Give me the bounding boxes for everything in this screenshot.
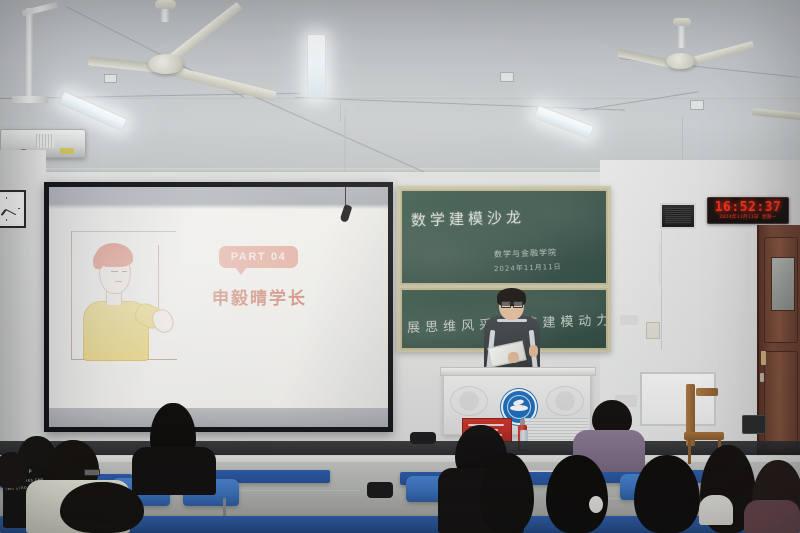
projector-mount-arm	[12, 96, 48, 103]
student-torso	[744, 500, 800, 533]
wall-crack	[661, 230, 662, 350]
projector-mount-pole	[26, 8, 33, 100]
wire-anchor	[500, 72, 514, 82]
lectern-side-medallion	[450, 386, 488, 416]
led-digital-clock: 16:52:37 2024年11月11日 星期一	[707, 197, 789, 224]
lectern-top-ledge	[440, 367, 596, 376]
student-torso	[699, 495, 733, 525]
illustration-eye	[122, 271, 127, 272]
bag-on-floor	[367, 482, 393, 498]
door-lock[interactable]	[760, 373, 764, 382]
small-whiteboard	[640, 372, 716, 426]
door-glass-pane	[771, 257, 795, 311]
ceiling-wire-drop	[345, 108, 346, 178]
analog-wall-clock	[0, 190, 26, 228]
bag-on-floor	[410, 432, 436, 444]
wall-crack	[659, 244, 660, 284]
presenter-glasses	[501, 301, 522, 306]
student-glasses	[84, 469, 100, 476]
led-clock-time: 16:52:37	[715, 201, 782, 214]
classroom-scene: 16:52:37 2024年11月11日 星期一	[0, 0, 800, 533]
stage-edge	[0, 441, 800, 456]
emblem-inner	[507, 395, 531, 419]
student-hair	[546, 455, 608, 533]
presenter-hand	[529, 345, 538, 357]
student-hair	[60, 482, 144, 533]
clock-hour-hand	[1, 209, 7, 215]
speaker-grill	[665, 208, 691, 224]
clock-face	[0, 194, 22, 224]
presenter-hand	[508, 352, 519, 363]
wall-monitor	[742, 415, 766, 434]
led-clock-date: 2024年11月11日 星期一	[719, 216, 776, 221]
student-hair	[480, 453, 534, 533]
illustration-hair-side	[93, 253, 103, 269]
wall-scuff	[620, 315, 638, 325]
fan-hub	[148, 54, 184, 74]
blackboard-upper-panel: 数学建模沙龙 数学与金融学院 2024年11月11日	[400, 189, 608, 285]
ceiling-wire-drop	[340, 98, 341, 122]
presentation-slide: PART 04 申毅晴学长	[49, 209, 388, 408]
projector-vent	[36, 134, 54, 148]
slide-part-label: PART 04	[231, 251, 287, 263]
hair-clip	[589, 496, 603, 513]
wooden-chair-leg	[688, 438, 691, 464]
illustration-mouth	[115, 281, 122, 282]
illustration-eye	[111, 271, 118, 272]
slide-title: 申毅晴学长	[212, 284, 307, 309]
fan-canopy	[155, 0, 176, 9]
lectern-side-medallion	[546, 386, 584, 416]
slide-part-badge: PART 04	[219, 246, 298, 268]
fluorescent-tube-light	[307, 34, 326, 98]
student-torso	[132, 447, 216, 495]
fan-canopy	[673, 18, 691, 26]
wire-anchor	[104, 74, 117, 83]
blackboard-heading: 数学建模沙龙	[411, 206, 526, 230]
fan-hub	[666, 53, 696, 69]
wooden-chair-rail	[696, 388, 718, 396]
projector-label	[60, 148, 74, 154]
door-handle[interactable]	[761, 351, 766, 365]
clock-minute-hand	[6, 209, 16, 215]
door-lower-panel	[764, 351, 798, 453]
wall-outlet[interactable]	[646, 322, 660, 339]
slide-frame-line	[71, 231, 72, 360]
wall-speaker	[660, 203, 696, 229]
screen-surface: PART 04 申毅晴学长	[49, 187, 388, 427]
student-hair	[634, 455, 700, 533]
wire-anchor	[690, 100, 704, 110]
blackboard-org-line: 数学与金融学院	[494, 247, 557, 260]
